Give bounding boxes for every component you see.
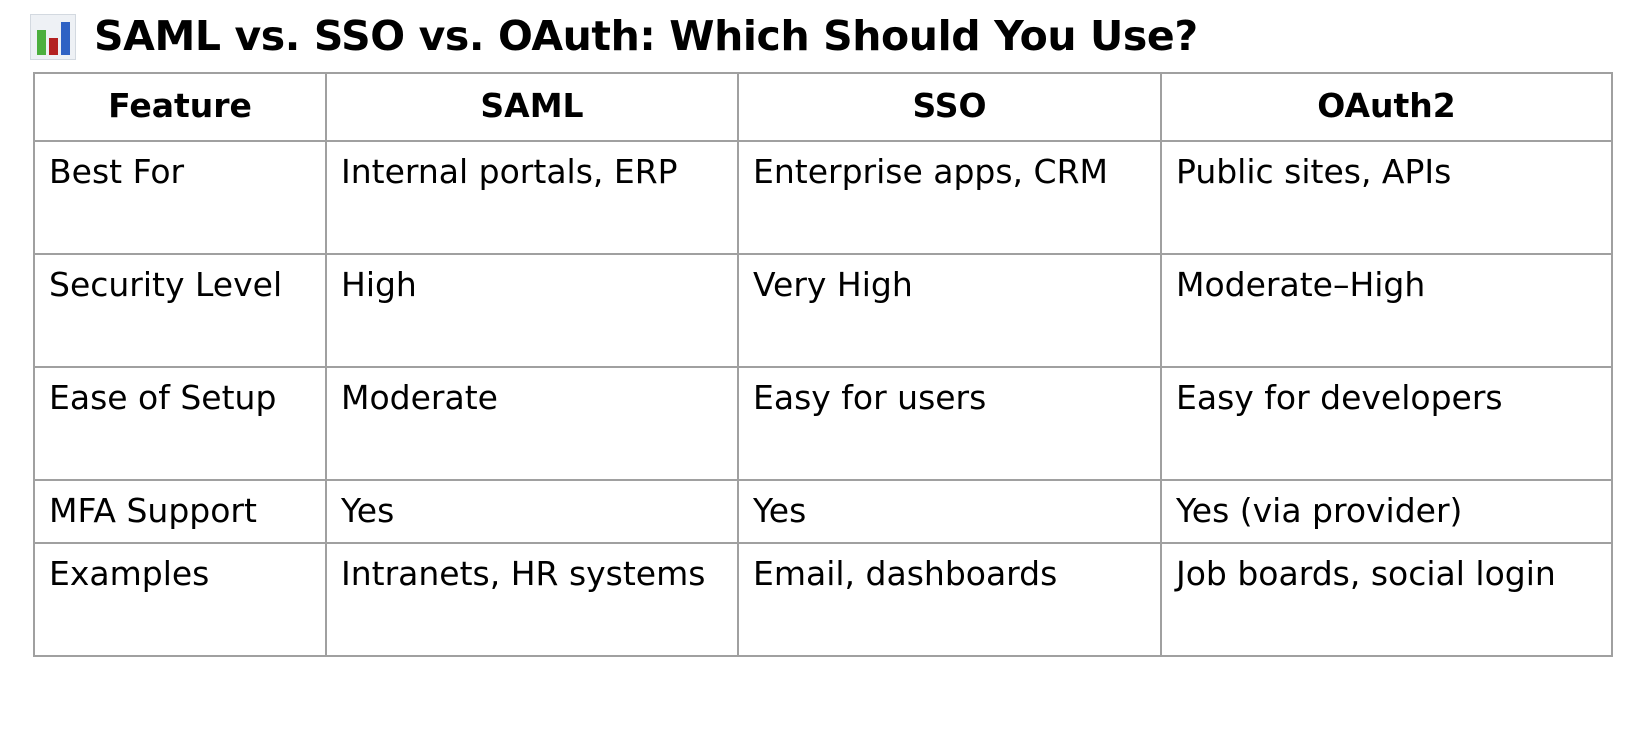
column-header-saml: SAML bbox=[326, 73, 738, 141]
column-header-sso: SSO bbox=[738, 73, 1161, 141]
bar-chart-icon-bar-green bbox=[37, 30, 46, 55]
cell-oauth2: Public sites, APIs bbox=[1161, 141, 1612, 254]
table-row: MFA Support Yes Yes Yes (via provider) bbox=[34, 480, 1612, 544]
cell-saml: High bbox=[326, 254, 738, 367]
table-body: Best For Internal portals, ERP Enterpris… bbox=[34, 141, 1612, 657]
cell-saml: Intranets, HR systems bbox=[326, 543, 738, 656]
comparison-table: Feature SAML SSO OAuth2 Best For Interna… bbox=[33, 72, 1613, 657]
cell-sso: Enterprise apps, CRM bbox=[738, 141, 1161, 254]
cell-sso: Very High bbox=[738, 254, 1161, 367]
cell-feature: Examples bbox=[34, 543, 326, 656]
table-row: Security Level High Very High Moderate–H… bbox=[34, 254, 1612, 367]
page-header: SAML vs. SSO vs. OAuth: Which Should You… bbox=[0, 0, 1646, 72]
cell-oauth2: Yes (via provider) bbox=[1161, 480, 1612, 544]
cell-feature: Security Level bbox=[34, 254, 326, 367]
column-header-feature: Feature bbox=[34, 73, 326, 141]
cell-feature: Ease of Setup bbox=[34, 367, 326, 480]
cell-feature: MFA Support bbox=[34, 480, 326, 544]
cell-sso: Email, dashboards bbox=[738, 543, 1161, 656]
cell-feature: Best For bbox=[34, 141, 326, 254]
cell-saml: Moderate bbox=[326, 367, 738, 480]
column-header-oauth2: OAuth2 bbox=[1161, 73, 1612, 141]
table-row: Best For Internal portals, ERP Enterpris… bbox=[34, 141, 1612, 254]
cell-oauth2: Easy for developers bbox=[1161, 367, 1612, 480]
comparison-table-container: Feature SAML SSO OAuth2 Best For Interna… bbox=[0, 72, 1646, 657]
cell-saml: Internal portals, ERP bbox=[326, 141, 738, 254]
cell-saml: Yes bbox=[326, 480, 738, 544]
bar-chart-icon-bar-red bbox=[49, 38, 58, 55]
cell-sso: Yes bbox=[738, 480, 1161, 544]
bar-chart-icon-bar-blue bbox=[61, 22, 70, 55]
page-root: SAML vs. SSO vs. OAuth: Which Should You… bbox=[0, 0, 1646, 746]
bar-chart-icon bbox=[30, 14, 76, 60]
cell-sso: Easy for users bbox=[738, 367, 1161, 480]
table-header-row: Feature SAML SSO OAuth2 bbox=[34, 73, 1612, 141]
table-header: Feature SAML SSO OAuth2 bbox=[34, 73, 1612, 141]
table-row: Examples Intranets, HR systems Email, da… bbox=[34, 543, 1612, 656]
cell-oauth2: Moderate–High bbox=[1161, 254, 1612, 367]
table-row: Ease of Setup Moderate Easy for users Ea… bbox=[34, 367, 1612, 480]
page-title: SAML vs. SSO vs. OAuth: Which Should You… bbox=[94, 15, 1198, 58]
cell-oauth2: Job boards, social login bbox=[1161, 543, 1612, 656]
